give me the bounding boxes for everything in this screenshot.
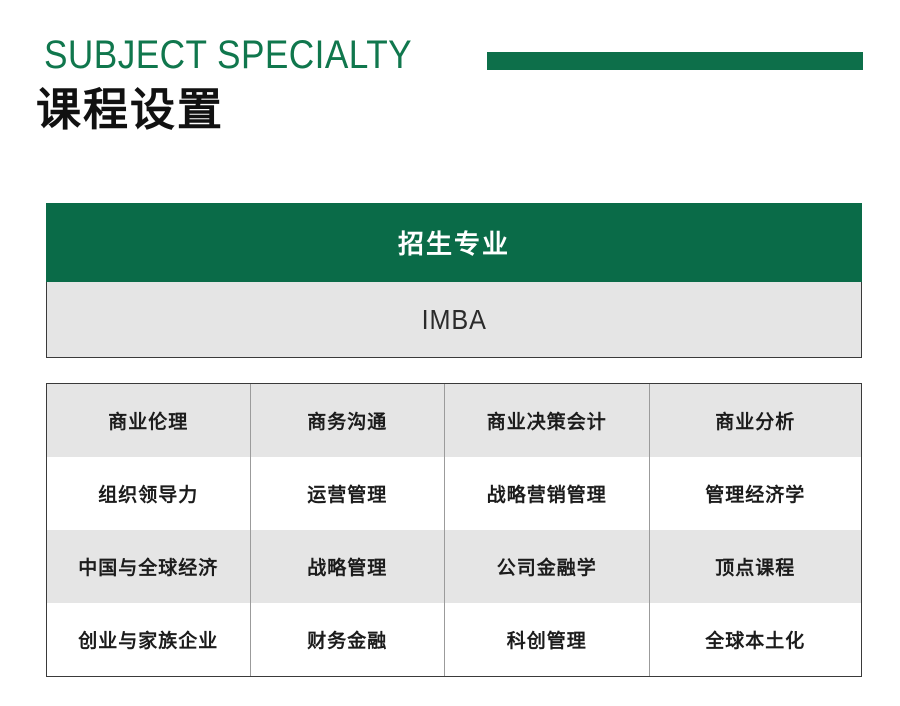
course-row: 创业与家族企业财务金融科创管理全球本土化 [47, 603, 861, 676]
course-cell: 管理经济学 [650, 457, 861, 530]
course-cell: 战略管理 [251, 530, 446, 603]
program-value-row: IMBA [46, 282, 862, 358]
course-row: 商业伦理商务沟通商业决策会计商业分析 [47, 384, 861, 457]
course-cell: 创业与家族企业 [47, 603, 251, 676]
program-banner: 招生专业 IMBA [46, 203, 862, 358]
course-cell: 全球本土化 [650, 603, 861, 676]
course-cell: 财务金融 [251, 603, 446, 676]
program-value-label: IMBA [421, 304, 486, 336]
course-cell: 商业伦理 [47, 384, 251, 457]
course-cell: 公司金融学 [445, 530, 650, 603]
course-grid: 商业伦理商务沟通商业决策会计商业分析组织领导力运营管理战略营销管理管理经济学中国… [46, 383, 862, 677]
course-cell: 战略营销管理 [445, 457, 650, 530]
course-cell: 科创管理 [445, 603, 650, 676]
course-cell: 中国与全球经济 [47, 530, 251, 603]
course-cell: 商务沟通 [251, 384, 446, 457]
page-title-english: SUBJECT SPECIALTY [44, 32, 412, 78]
program-header-label: 招生专业 [398, 224, 510, 261]
page-title-chinese: 课程设置 [36, 83, 224, 137]
course-cell: 商业决策会计 [445, 384, 650, 457]
course-cell: 运营管理 [251, 457, 446, 530]
course-row: 中国与全球经济战略管理公司金融学顶点课程 [47, 530, 861, 603]
course-cell: 顶点课程 [650, 530, 861, 603]
header-accent-rule [487, 52, 863, 70]
program-header-bar: 招生专业 [46, 203, 862, 282]
page-header: SUBJECT SPECIALTY 课程设置 [0, 0, 900, 180]
course-cell: 商业分析 [650, 384, 861, 457]
course-cell: 组织领导力 [47, 457, 251, 530]
course-row: 组织领导力运营管理战略营销管理管理经济学 [47, 457, 861, 530]
